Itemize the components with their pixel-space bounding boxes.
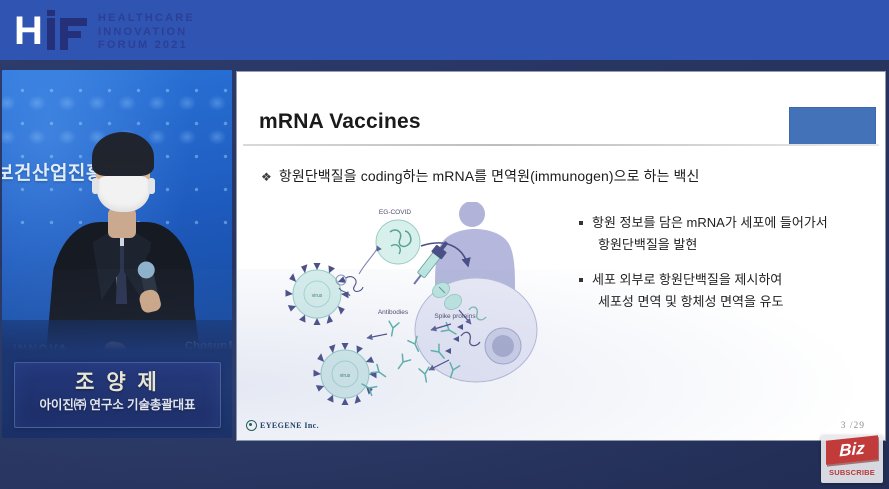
speaker-name-plate: 조 양 제 아이진㈜ 연구소 기술총괄대표 xyxy=(14,362,221,428)
hif-letter-f-top xyxy=(60,18,87,26)
hif-letter-i xyxy=(47,18,55,50)
slide-title-divider xyxy=(243,144,879,146)
hif-logo-wordmark: HEALTHCARE INNOVATION FORUM 2021 xyxy=(98,12,195,53)
slide-main-bullet-text: 항원단백질을 coding하는 mRNA를 면역원(immunogen)으로 하… xyxy=(279,168,700,184)
biz-subscribe-watermark[interactable]: Biz SUBSCRIBE xyxy=(821,435,883,483)
forum-header-bar: H HEALTHCARE INNOVATION FORUM 2021 xyxy=(0,0,889,60)
eyegene-mark-icon xyxy=(246,420,257,431)
hif-letter-i-dot xyxy=(47,10,55,16)
speaker-title: 아이진㈜ 연구소 기술총괄대표 xyxy=(15,398,220,413)
speaker-neck xyxy=(108,208,136,238)
svg-text:virus: virus xyxy=(312,293,323,299)
slide-page-indicator: 3 /29 xyxy=(841,421,865,431)
hif-letter-h: H xyxy=(14,12,44,50)
slide-bullet-list: 항원 정보를 담은 mRNA가 세포에 들어가서 항원단백질을 발현 세포 외부… xyxy=(577,212,877,326)
mrna-vaccine-mechanism-diagram: virus xyxy=(263,202,563,410)
hif-logomark-icon: H xyxy=(14,8,90,52)
slide-main-bullet: ❖항원단백질을 coding하는 mRNA를 면역원(immunogen)으로 … xyxy=(261,166,700,186)
bullet-line-2: 항원단백질을 발현 xyxy=(592,234,877,256)
eyegene-company-name: EYEGENE Inc. xyxy=(260,421,319,430)
hif-wordmark-line-3: FORUM 2021 xyxy=(98,39,195,53)
list-item: 세포 외부로 항원단백질을 제시하여 세포성 면역 및 항체성 면역을 유도 xyxy=(577,269,877,313)
slide-title: mRNA Vaccines xyxy=(259,110,421,134)
speaker-name: 조 양 제 xyxy=(15,371,220,395)
list-item: 항원 정보를 담은 mRNA가 세포에 들어가서 항원단백질을 발현 xyxy=(577,212,877,256)
hif-letter-f-mid xyxy=(60,31,81,38)
biz-brand-logo: Biz xyxy=(826,435,878,464)
broadcast-stage: H HEALTHCARE INNOVATION FORUM 2021 보건산업진… xyxy=(0,0,889,489)
face-mask-icon xyxy=(97,176,150,212)
slide-accent-box xyxy=(789,107,876,145)
bullet-line-1: 세포 외부로 항원단백질을 제시하여 xyxy=(592,272,782,287)
presentation-slide[interactable]: mRNA Vaccines ❖항원단백질을 coding하는 mRNA를 면역원… xyxy=(237,72,885,440)
subscribe-button[interactable]: SUBSCRIBE xyxy=(829,468,875,477)
eyegene-logo: EYEGENE Inc. xyxy=(246,420,319,431)
svg-text:virus: virus xyxy=(340,373,351,379)
bullet-line-2: 세포성 면역 및 항체성 면역을 유도 xyxy=(592,291,877,313)
hif-wordmark-line-2: INNOVATION xyxy=(98,26,195,40)
diamond-bullet-icon: ❖ xyxy=(261,170,272,184)
hif-wordmark-line-1: HEALTHCARE xyxy=(98,12,195,26)
svg-text:Spike proteins: Spike proteins xyxy=(434,313,476,320)
svg-text:Antibodies: Antibodies xyxy=(378,309,409,316)
hif-logo: H HEALTHCARE INNOVATION FORUM 2021 xyxy=(14,6,189,54)
bullet-line-1: 항원 정보를 담은 mRNA가 세포에 들어가서 xyxy=(592,215,828,230)
svg-text:EG-COVID: EG-COVID xyxy=(379,209,411,216)
